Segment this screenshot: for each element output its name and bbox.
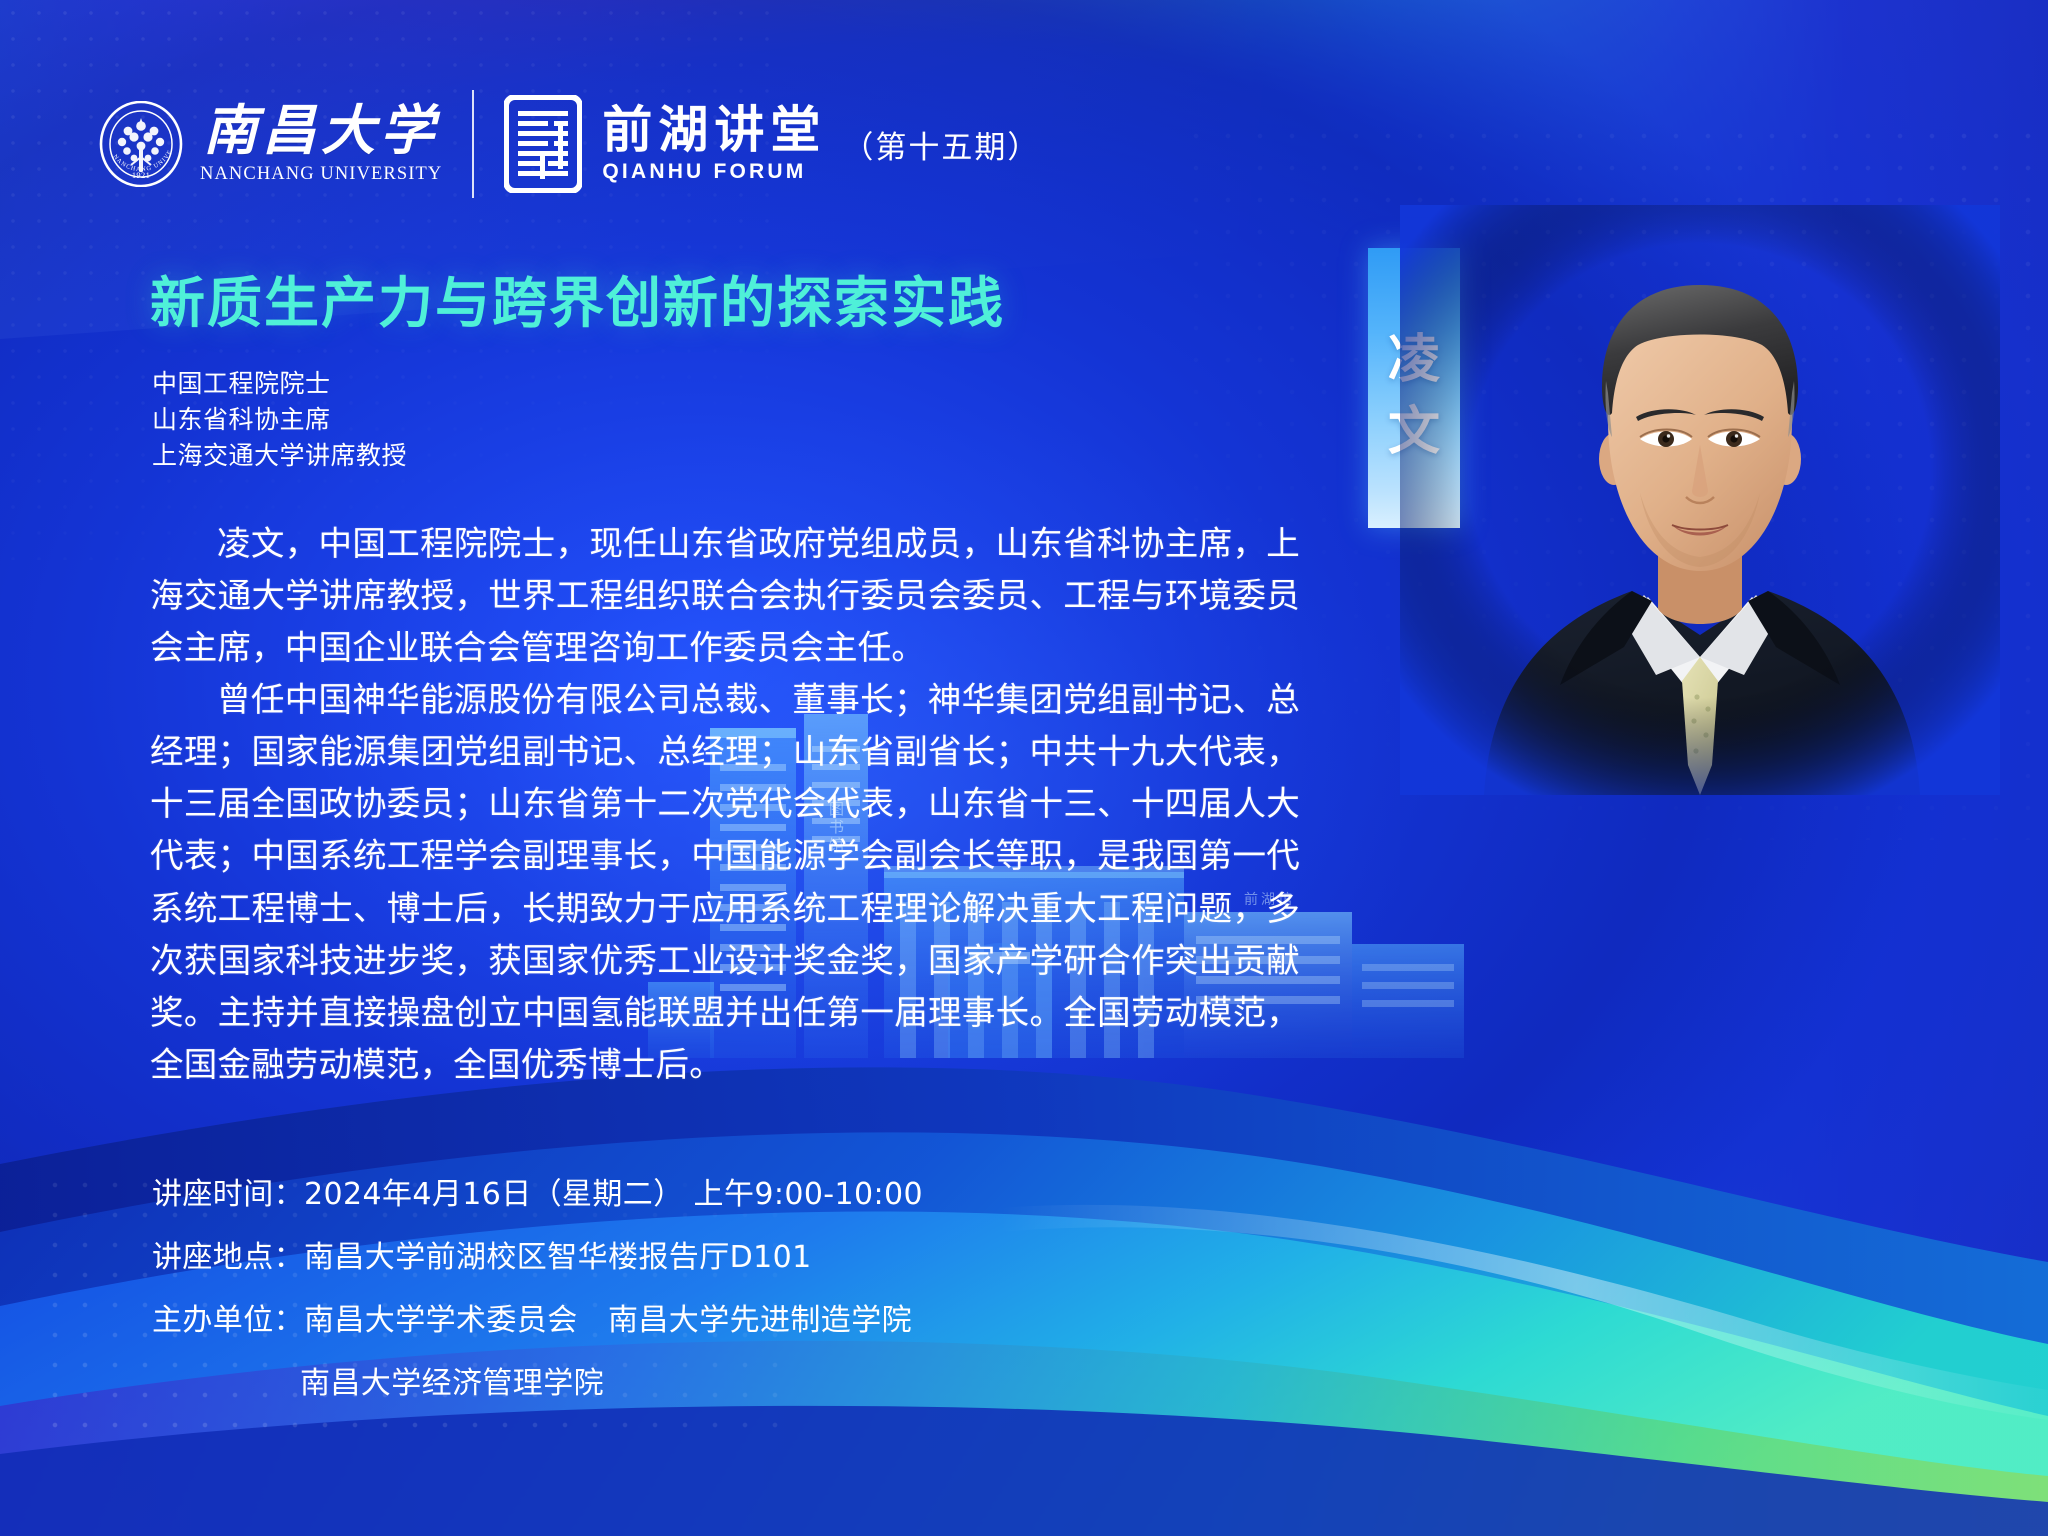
forum-name-en: QIANHU FORUM: [602, 160, 826, 184]
university-name-cn: 南昌大学: [203, 103, 439, 158]
credential-line: 中国工程院院士: [152, 366, 407, 402]
credential-line: 山东省科协主席: [152, 402, 407, 438]
poster-canvas: 图书馆 前湖馆: [0, 0, 2048, 1536]
credential-line: 上海交通大学讲席教授: [152, 438, 407, 474]
speaker-biography: 凌文，中国工程院院士，现任山东省政府党组成员，山东省科协主席，上海交通大学讲席教…: [150, 518, 1300, 1091]
nanchang-university-emblem-icon: 1921 NANCHANG UNIVERSITY: [98, 101, 184, 187]
forum-name-cn: 前湖讲堂: [602, 104, 826, 157]
event-location: 讲座地点：南昌大学前湖校区智华楼报告厅D101: [152, 1243, 923, 1273]
header-divider: [472, 90, 474, 198]
forum-issue-number: （第十五期）: [842, 122, 1040, 167]
event-details: 讲座时间：2024年4月16日（星期二） 上午9:00-10:00 讲座地点：南…: [152, 1180, 923, 1399]
university-name-en: NANCHANG UNIVERSITY: [200, 164, 442, 185]
event-organizer: 主办单位：南昌大学学术委员会 南昌大学先进制造学院: [152, 1306, 923, 1336]
qianhu-forum-seal-icon: [504, 95, 582, 193]
lecture-title: 新质生产力与跨界创新的探索实践: [150, 258, 1005, 338]
qianhu-forum-wordmark: 前湖讲堂 QIANHU FORUM: [602, 104, 826, 185]
biography-paragraph: 凌文，中国工程院院士，现任山东省政府党组成员，山东省科协主席，上海交通大学讲席教…: [150, 518, 1300, 674]
nanchang-university-wordmark: 南昌大学 NANCHANG UNIVERSITY: [200, 103, 442, 184]
event-time: 讲座时间：2024年4月16日（星期二） 上午9:00-10:00: [152, 1180, 923, 1210]
biography-paragraph: 曾任中国神华能源股份有限公司总裁、董事长；神华集团党组副书记、总经理；国家能源集…: [150, 674, 1300, 1091]
speaker-portrait-photo: [1400, 205, 2000, 795]
event-organizer-secondary: 南昌大学经济管理学院: [300, 1369, 923, 1399]
poster-header: 1921 NANCHANG UNIVERSITY 南昌大学 NANCHANG U…: [98, 90, 1040, 198]
speaker-credentials: 中国工程院院士 山东省科协主席 上海交通大学讲席教授: [152, 366, 407, 474]
